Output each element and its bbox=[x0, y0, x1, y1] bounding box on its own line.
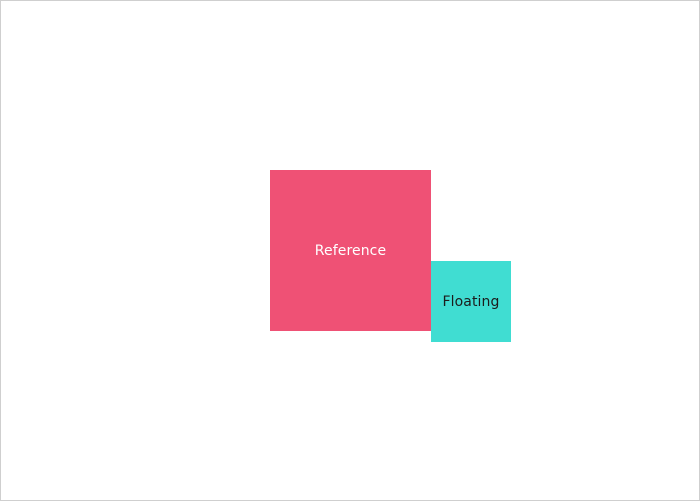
reference-rectangle[interactable]: Reference bbox=[270, 170, 431, 331]
shape-canvas: Reference Floating bbox=[0, 0, 700, 501]
floating-rectangle-label: Floating bbox=[442, 295, 499, 309]
reference-rectangle-label: Reference bbox=[315, 244, 386, 258]
floating-rectangle[interactable]: Floating bbox=[431, 261, 511, 342]
